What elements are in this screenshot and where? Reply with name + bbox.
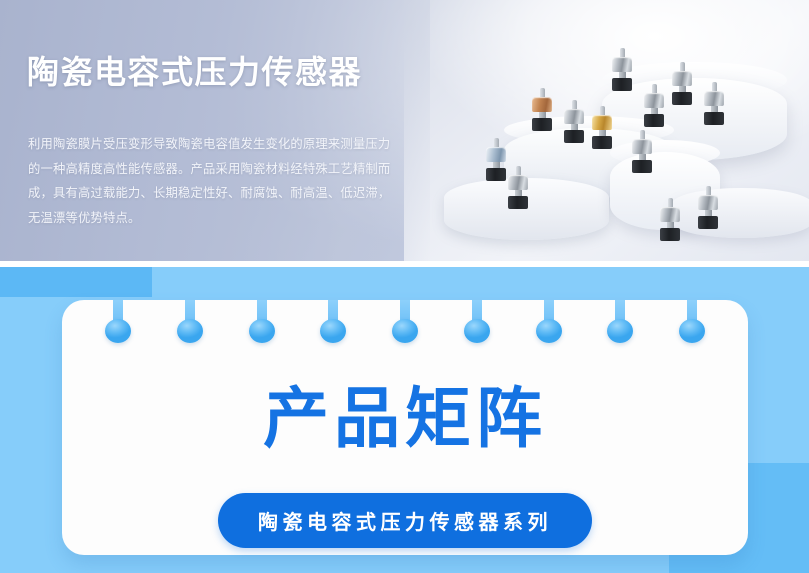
sensor-unit xyxy=(704,82,724,125)
accent-block-top-left xyxy=(0,267,152,297)
sensor-cap xyxy=(592,115,612,130)
page-title: 陶瓷电容式压力传感器 xyxy=(27,54,362,91)
sensor-base xyxy=(508,196,528,209)
sensor-pin xyxy=(680,62,685,71)
sensor-unit xyxy=(532,88,552,131)
sensor-cap xyxy=(508,175,528,190)
series-badge[interactable]: 陶瓷电容式压力传感器系列 xyxy=(218,493,592,548)
hero-banner: 陶瓷电容式压力传感器 利用陶瓷膜片受压变形导致陶瓷电容值发生变化的原理来测量压力… xyxy=(0,0,809,261)
binder-ring xyxy=(257,300,267,324)
binder-ring xyxy=(328,300,338,324)
sensor-unit xyxy=(592,106,612,149)
sensor-cap xyxy=(660,207,680,222)
binder-ring xyxy=(544,300,554,324)
sensor-cap xyxy=(644,93,664,108)
sensor-pin xyxy=(640,130,645,139)
sensor-unit xyxy=(660,198,680,241)
sensor-cap xyxy=(632,139,652,154)
sensor-base xyxy=(660,228,680,241)
sensor-unit xyxy=(564,100,584,143)
sensor-cap xyxy=(698,195,718,210)
binder-ring xyxy=(185,300,195,324)
sensor-base xyxy=(564,130,584,143)
sensor-unit xyxy=(672,62,692,105)
product-photo xyxy=(404,0,809,261)
binder-ring xyxy=(615,300,625,324)
sensor-pin xyxy=(540,88,545,97)
sensor-pin xyxy=(652,84,657,93)
sensor-base xyxy=(532,118,552,131)
sensor-cap xyxy=(612,57,632,72)
binder-ring xyxy=(113,300,123,324)
product-matrix-section: 产品矩阵 陶瓷电容式压力传感器系列 xyxy=(0,267,809,573)
sensor-pin xyxy=(712,82,717,91)
sensor-base xyxy=(612,78,632,91)
pedestal-front xyxy=(672,188,809,238)
binder-ring xyxy=(400,300,410,324)
matrix-heading: 产品矩阵 xyxy=(62,385,748,451)
sensor-pin xyxy=(706,186,711,195)
sensor-base xyxy=(672,92,692,105)
sensor-base xyxy=(632,160,652,173)
hero-description: 利用陶瓷膜片受压变形导致陶瓷电容值发生变化的原理来测量压力的一种高精度高性能传感… xyxy=(28,132,396,230)
product-page: 陶瓷电容式压力传感器 利用陶瓷膜片受压变形导致陶瓷电容值发生变化的原理来测量压力… xyxy=(0,0,809,573)
sensor-pin xyxy=(516,166,521,175)
sensor-base xyxy=(698,216,718,229)
sensor-pin xyxy=(620,48,625,57)
binder-rings xyxy=(62,300,748,346)
sensor-base xyxy=(592,136,612,149)
sensor-unit xyxy=(486,138,506,181)
sensor-unit xyxy=(632,130,652,173)
binder-ring xyxy=(687,300,697,324)
accent-block-bottom-left xyxy=(0,565,42,573)
sensor-unit xyxy=(612,48,632,91)
sensor-unit xyxy=(508,166,528,209)
sensor-unit xyxy=(698,186,718,229)
sensor-cap xyxy=(486,147,506,162)
sensor-cap xyxy=(672,71,692,86)
sensor-cap xyxy=(704,91,724,106)
sensor-pin xyxy=(572,100,577,109)
sensor-base xyxy=(486,168,506,181)
sensor-cap xyxy=(532,97,552,112)
sensor-pin xyxy=(600,106,605,115)
sensor-base xyxy=(704,112,724,125)
sensor-unit xyxy=(644,84,664,127)
sensor-cap xyxy=(564,109,584,124)
sensor-base xyxy=(644,114,664,127)
binder-ring xyxy=(472,300,482,324)
sensor-pin xyxy=(668,198,673,207)
sensor-pin xyxy=(494,138,499,147)
